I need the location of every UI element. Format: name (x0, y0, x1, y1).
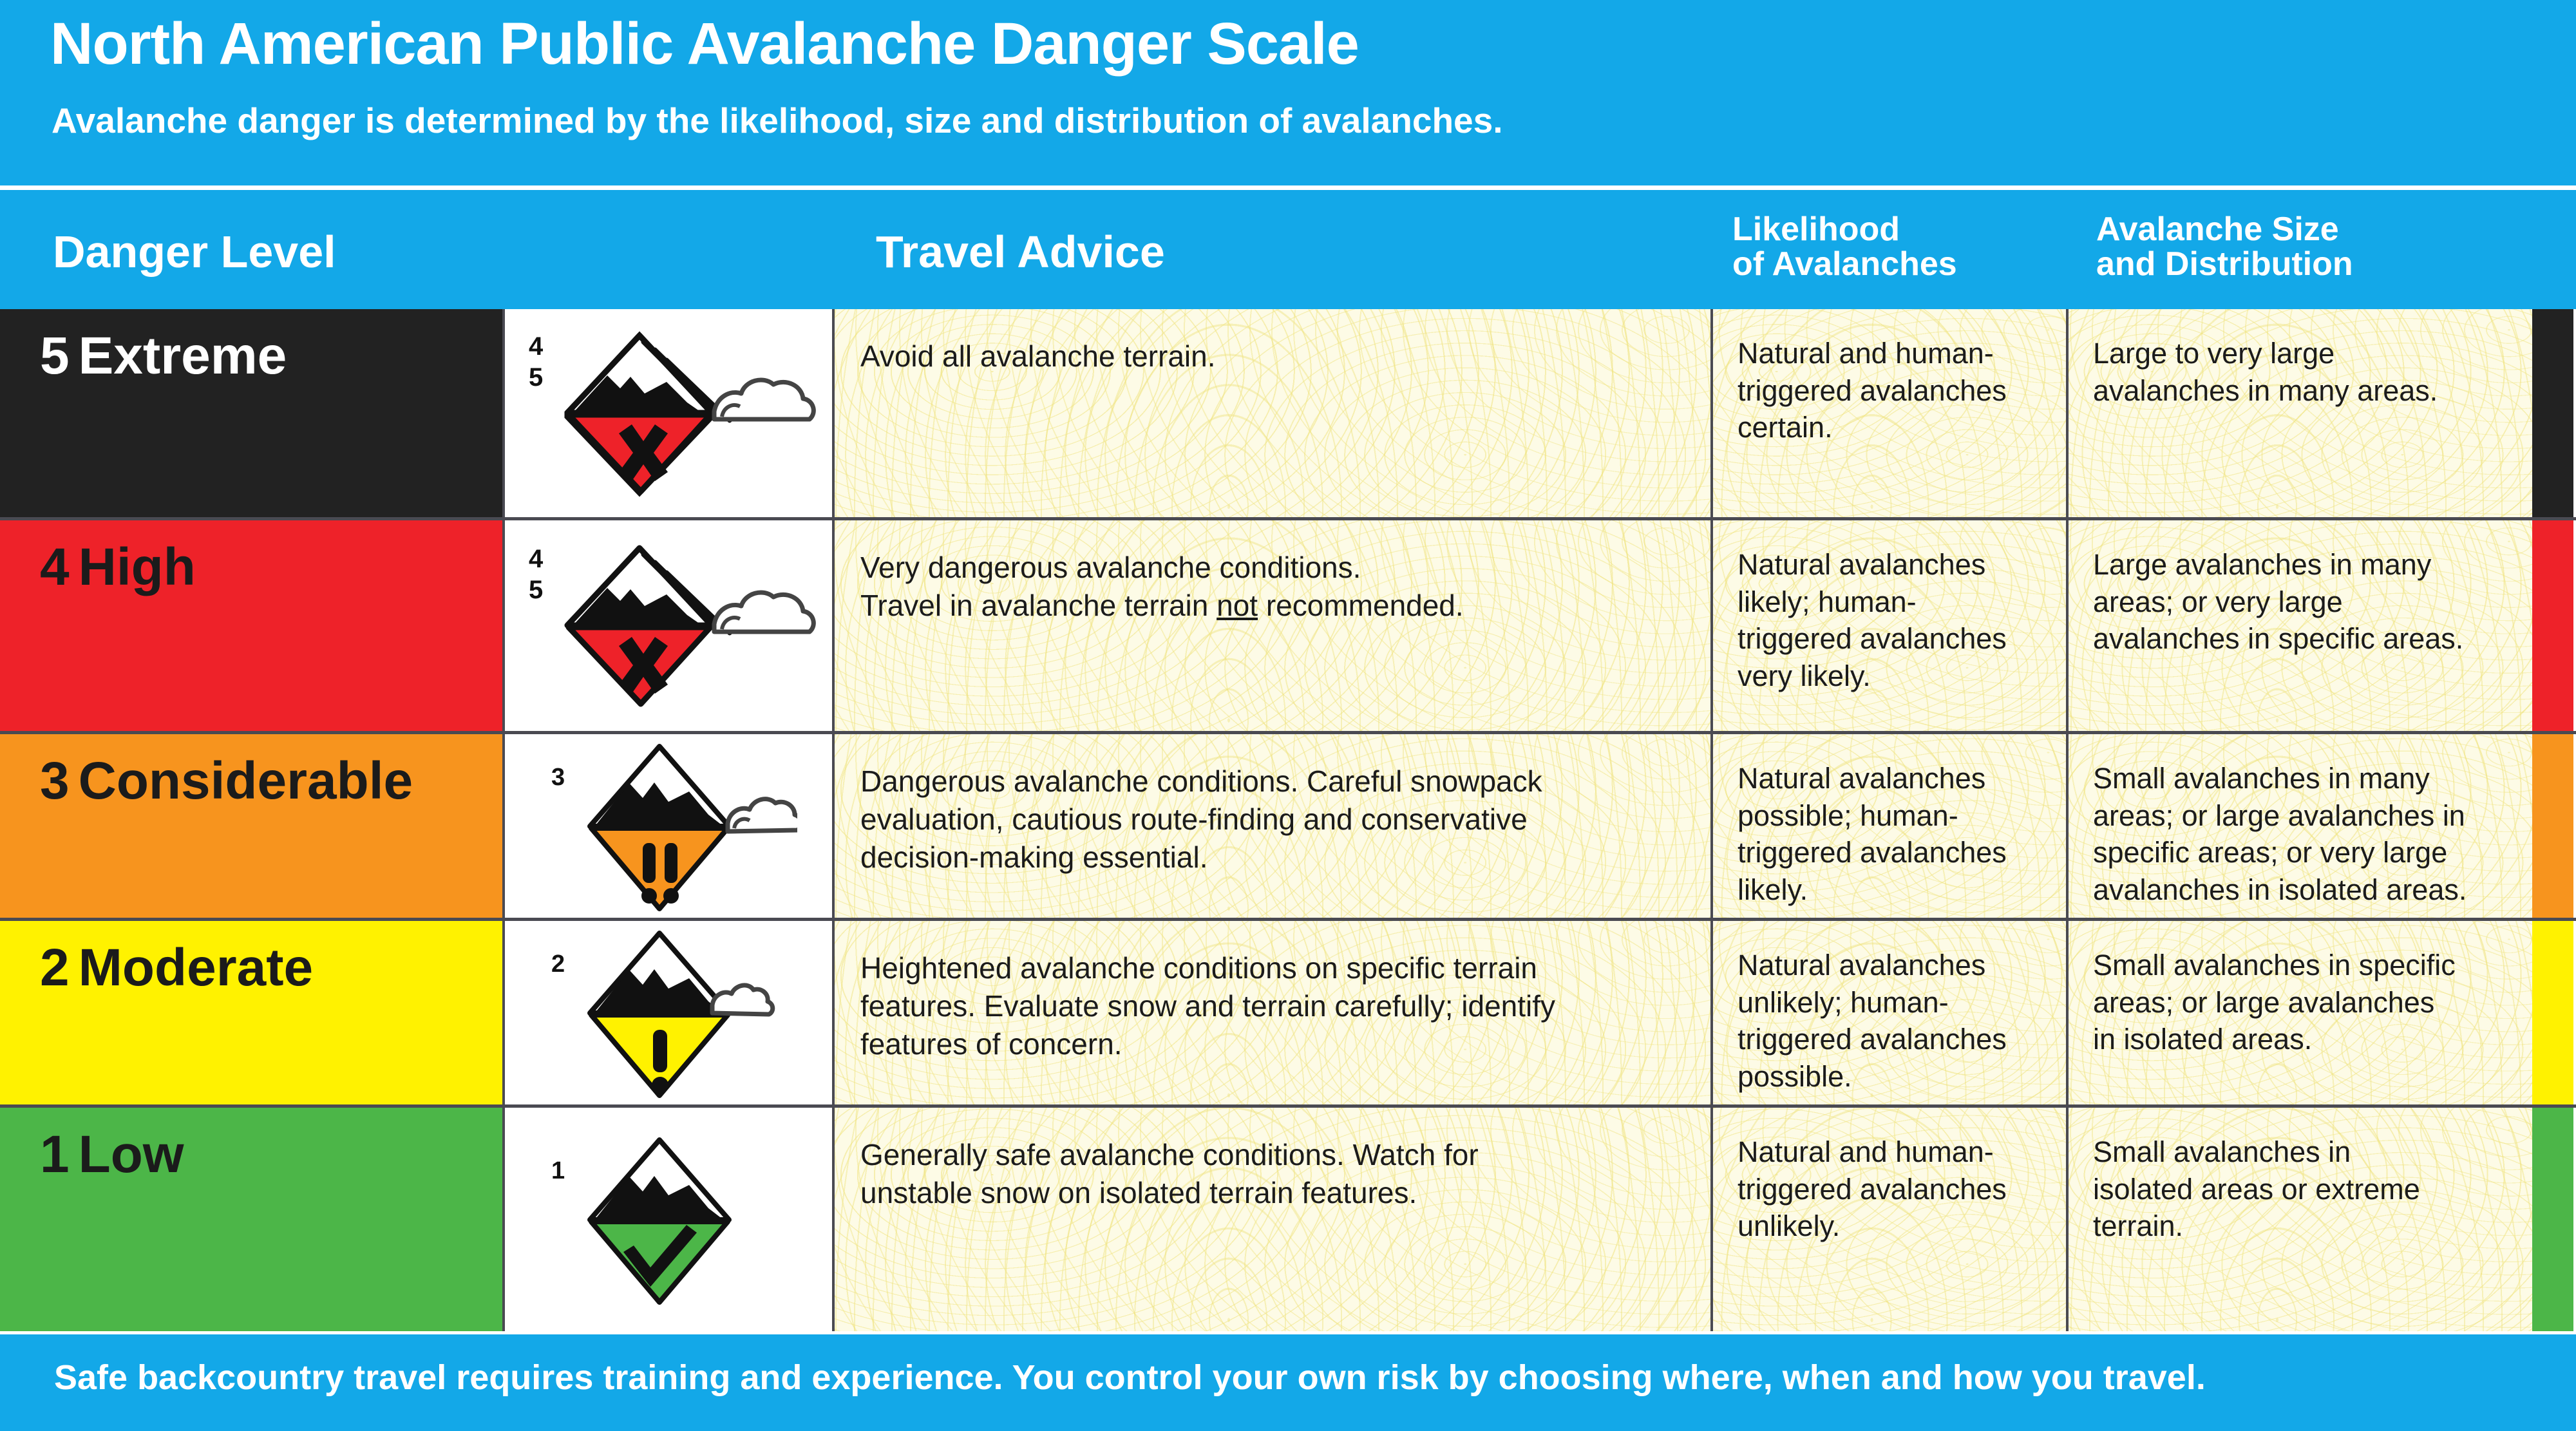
danger-icon-cell: 1 (502, 1108, 835, 1331)
likelihood-text: Natural avalanches likely; human- trigge… (1713, 520, 2066, 694)
svg-text:1: 1 (551, 1157, 565, 1184)
danger-level-number: 2 (40, 938, 79, 997)
row-color-edge (2532, 309, 2573, 517)
danger-level-name: Extreme (79, 327, 287, 385)
size-distribution-cell: Large to very large avalanches in many a… (2069, 309, 2532, 517)
danger-level-number: 3 (40, 752, 79, 810)
column-header-size: Avalanche Size and Distribution (2096, 213, 2353, 281)
size-distribution-text: Small avalanches in isolated areas or ex… (2069, 1108, 2532, 1245)
danger-icon-cell: 3 (502, 734, 835, 918)
advice-emphasis: not (1217, 589, 1258, 622)
travel-advice-cell: Avoid all avalanche terrain. (835, 309, 1713, 517)
likelihood-cell: Natural and human- triggered avalanches … (1713, 1108, 2069, 1331)
likelihood-cell: Natural and human- triggered avalanches … (1713, 309, 2069, 517)
danger-level-label: 4High (40, 541, 196, 594)
row-color-edge (2532, 520, 2573, 731)
size-distribution-cell: Small avalanches in isolated areas or ex… (2069, 1108, 2532, 1331)
low-danger-diamond-icon: 1 (505, 1108, 832, 1331)
danger-level-cell: 2Moderate (0, 921, 502, 1104)
travel-advice-cell: Dangerous avalanche conditions. Careful … (835, 734, 1713, 918)
banner-divider (0, 185, 2576, 190)
row-color-edge (2532, 921, 2573, 1104)
table-row: 2Moderate 2 Heightened av (0, 921, 2576, 1108)
likelihood-text: Natural and human- triggered avalanches … (1713, 309, 2066, 446)
danger-icon-cell: 4 5 (502, 309, 835, 517)
column-header-danger-level: Danger Level (53, 229, 336, 275)
high-danger-diamond-icon: 4 5 (505, 520, 832, 731)
page-title: North American Public Avalanche Danger S… (50, 14, 1359, 73)
table-row: 1Low 1 Generally safe avalanche conditio… (0, 1108, 2576, 1331)
travel-advice-text: Heightened avalanche conditions on speci… (835, 921, 1710, 1063)
danger-level-label: 5Extreme (40, 330, 287, 383)
travel-advice-cell: Very dangerous avalanche conditions. Tra… (835, 520, 1713, 731)
danger-level-cell: 1Low (0, 1108, 502, 1331)
poster-footer: Safe backcountry travel requires trainin… (0, 1334, 2576, 1431)
extreme-danger-diamond-icon: 4 5 (505, 309, 832, 517)
size-distribution-cell: Small avalanches in many areas; or large… (2069, 734, 2532, 918)
danger-level-number: 4 (40, 538, 79, 596)
danger-level-cell: 4High (0, 520, 502, 731)
danger-icon-cell: 4 5 (502, 520, 835, 731)
danger-level-name: High (79, 538, 196, 596)
svg-text:4: 4 (529, 332, 544, 361)
danger-level-cell: 3Considerable (0, 734, 502, 918)
likelihood-text: Natural avalanches possible; human- trig… (1713, 734, 2066, 908)
size-distribution-text: Small avalanches in many areas; or large… (2069, 734, 2532, 908)
svg-text:2: 2 (551, 951, 565, 978)
svg-text:5: 5 (529, 363, 543, 392)
likelihood-cell: Natural avalanches possible; human- trig… (1713, 734, 2069, 918)
likelihood-text: Natural and human- triggered avalanches … (1713, 1108, 2066, 1245)
table-row: 5Extreme 4 5 (0, 309, 2576, 520)
row-color-edge (2532, 734, 2573, 918)
danger-level-cell: 5Extreme (0, 309, 502, 517)
danger-level-name: Moderate (79, 938, 314, 997)
travel-advice-text: Generally safe avalanche conditions. Wat… (835, 1108, 1710, 1212)
column-header-travel-advice: Travel Advice (876, 229, 1165, 275)
advice-part2: recommended. (1258, 589, 1464, 622)
considerable-danger-diamond-icon: 3 (505, 734, 832, 918)
danger-level-label: 3Considerable (40, 755, 413, 808)
likelihood-text: Natural avalanches unlikely; human- trig… (1713, 921, 2066, 1095)
svg-text:3: 3 (551, 764, 565, 791)
footer-text: Safe backcountry travel requires trainin… (54, 1360, 2206, 1395)
danger-level-label: 1Low (40, 1128, 184, 1181)
svg-text:5: 5 (529, 576, 543, 604)
danger-level-name: Considerable (79, 752, 413, 810)
moderate-danger-diamond-icon: 2 (505, 921, 832, 1104)
size-distribution-cell: Large avalanches in many areas; or very … (2069, 520, 2532, 731)
poster-banner: North American Public Avalanche Danger S… (0, 0, 2576, 182)
size-distribution-text: Large to very large avalanches in many a… (2069, 309, 2532, 409)
size-distribution-cell: Small avalanches in specific areas; or l… (2069, 921, 2532, 1104)
row-color-edge (2532, 1108, 2573, 1331)
danger-icon-cell: 2 (502, 921, 835, 1104)
size-distribution-text: Large avalanches in many areas; or very … (2069, 520, 2532, 658)
svg-text:4: 4 (529, 545, 544, 573)
danger-level-name: Low (79, 1125, 184, 1184)
table-row: 3Considerable 3 (0, 734, 2576, 921)
travel-advice-cell: Generally safe avalanche conditions. Wat… (835, 1108, 1713, 1331)
column-header-band: Danger Level Travel Advice Likelihood of… (0, 190, 2576, 309)
page-subtitle: Avalanche danger is determined by the li… (52, 103, 1503, 138)
table-row: 4High 4 5 (0, 520, 2576, 734)
travel-advice-text: Avoid all avalanche terrain. (835, 309, 1710, 375)
size-distribution-text: Small avalanches in specific areas; or l… (2069, 921, 2532, 1058)
travel-advice-text: Dangerous avalanche conditions. Careful … (835, 734, 1710, 877)
column-header-likelihood: Likelihood of Avalanches (1732, 213, 1957, 281)
travel-advice-text: Very dangerous avalanche conditions. Tra… (835, 520, 1710, 625)
avalanche-danger-scale-poster: North American Public Avalanche Danger S… (0, 0, 2576, 1431)
danger-scale-table: 5Extreme 4 5 (0, 309, 2576, 1334)
travel-advice-cell: Heightened avalanche conditions on speci… (835, 921, 1713, 1104)
danger-level-number: 1 (40, 1125, 79, 1184)
likelihood-cell: Natural avalanches unlikely; human- trig… (1713, 921, 2069, 1104)
likelihood-cell: Natural avalanches likely; human- trigge… (1713, 520, 2069, 731)
danger-level-label: 2Moderate (40, 942, 313, 994)
danger-level-number: 5 (40, 327, 79, 385)
